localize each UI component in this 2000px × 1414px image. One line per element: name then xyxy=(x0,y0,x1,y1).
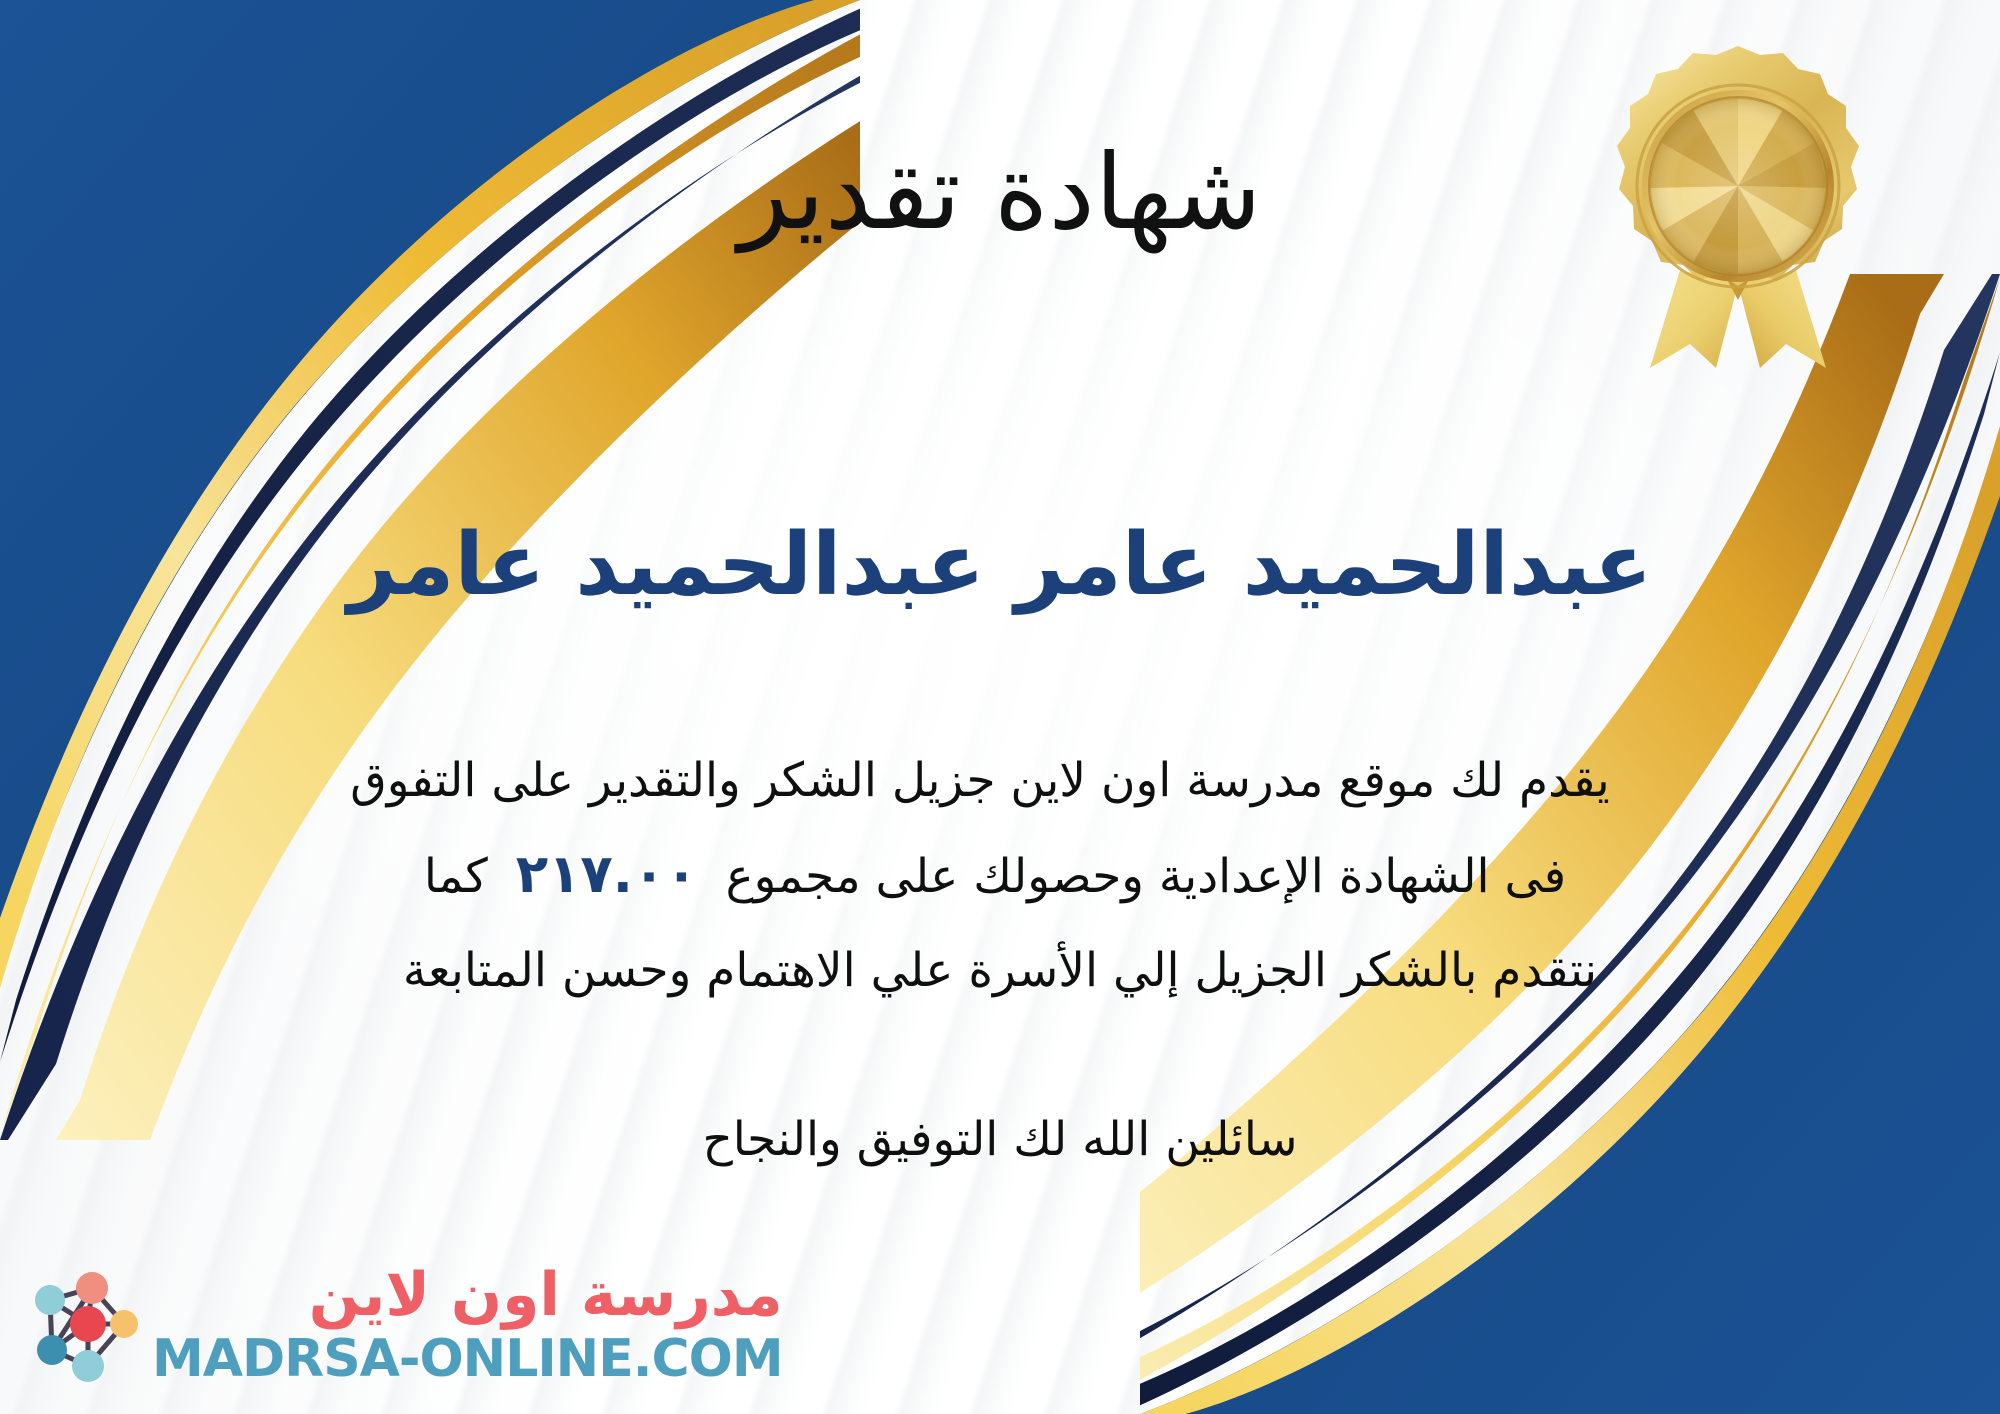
node-red-center xyxy=(70,1306,106,1342)
brand-website-url: MADRSA-ONLINE.COM xyxy=(152,1333,783,1385)
brand-arabic-name: مدرسة اون لاين xyxy=(309,1265,783,1325)
node-light-teal-bottom xyxy=(72,1350,104,1382)
certificate-content: شهادة تقدير عبدالحميد عامر عبدالحميد عام… xyxy=(0,0,2000,1414)
certificate-title: شهادة تقدير xyxy=(0,135,2000,249)
body-line-2-suffix: كما xyxy=(424,849,488,904)
node-light-teal-top-left xyxy=(35,1285,65,1315)
body-line-3: نتقدم بالشكر الجزيل إلي الأسرة علي الاهت… xyxy=(60,926,1940,1015)
brand-text: مدرسة اون لاين MADRSA-ONLINE.COM xyxy=(152,1265,783,1385)
node-amber-right xyxy=(110,1310,138,1338)
recipient-name: عبدالحميد عامر عبدالحميد عامر xyxy=(0,516,2000,615)
body-line-2-prefix: فى الشهادة الإعدادية وحصولك على مجموع xyxy=(726,849,1567,904)
brand-logo[interactable]: مدرسة اون لاين MADRSA-ONLINE.COM xyxy=(26,1262,783,1388)
total-score-value: ٢١٧.٠٠ xyxy=(488,825,726,926)
node-salmon-top xyxy=(76,1272,108,1304)
body-line-2: فى الشهادة الإعدادية وحصولك على مجموع٢١٧… xyxy=(60,825,1940,926)
network-nodes-icon xyxy=(26,1262,144,1388)
certificate-page: شهادة تقدير عبدالحميد عامر عبدالحميد عام… xyxy=(0,0,2000,1414)
certificate-body: يقدم لك موقع مدرسة اون لاين جزيل الشكر و… xyxy=(60,736,1940,1015)
body-line-1: يقدم لك موقع مدرسة اون لاين جزيل الشكر و… xyxy=(60,736,1940,825)
node-dark-teal-bottom-left xyxy=(37,1335,67,1365)
closing-wish-line: سائلين الله لك التوفيق والنجاح xyxy=(0,1112,2000,1167)
